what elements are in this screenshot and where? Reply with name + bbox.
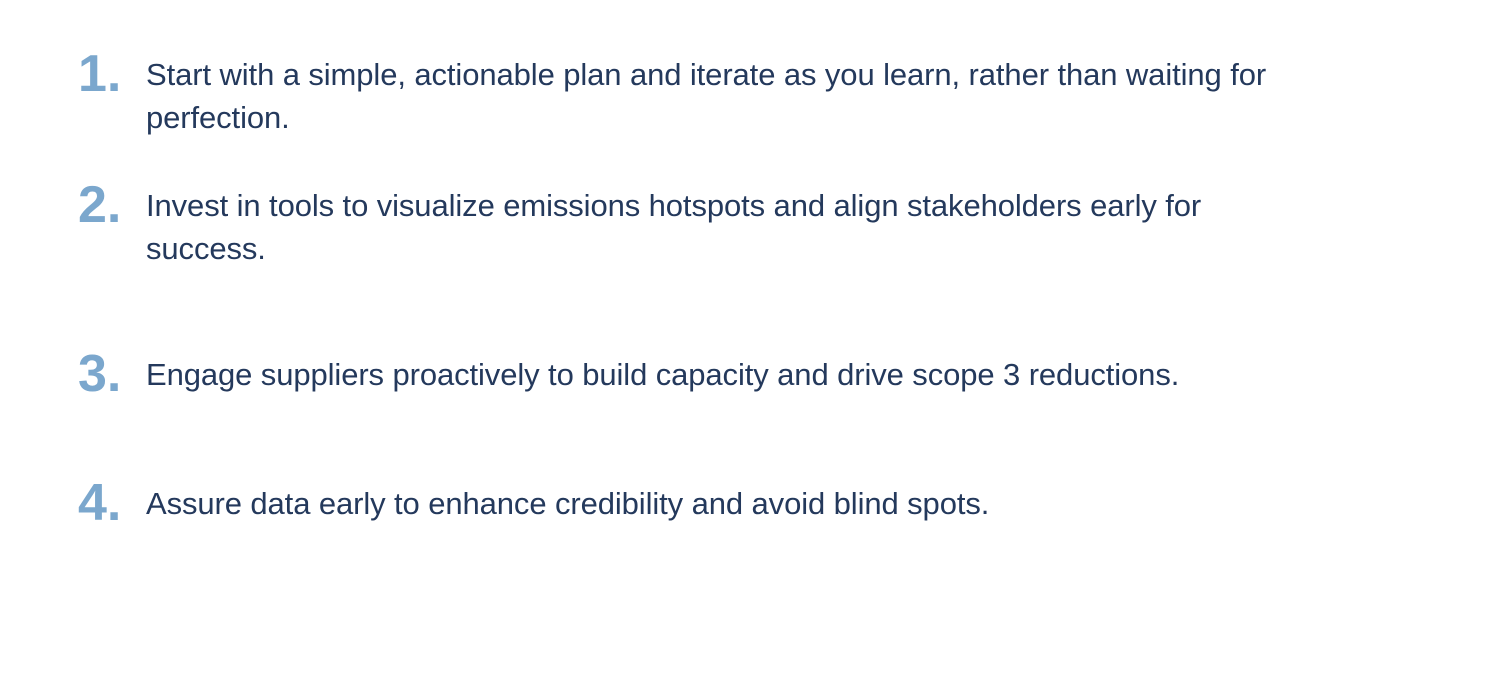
list-item-number: 4. [78,481,146,525]
list-item-number: 2. [78,183,146,227]
list-item-text: Assure data early to enhance credibility… [146,481,1386,525]
list-item-text: Engage suppliers proactively to build ca… [146,352,1386,396]
list-item: 1. Start with a simple, actionable plan … [78,52,1418,139]
list-item-number: 3. [78,352,146,396]
list-item-text: Invest in tools to visualize emissions h… [146,183,1306,270]
list-item: 3. Engage suppliers proactively to build… [78,352,1418,396]
numbered-takeaways-list: 1. Start with a simple, actionable plan … [78,52,1418,525]
slide-canvas: 1. Start with a simple, actionable plan … [0,0,1492,681]
list-item: 4. Assure data early to enhance credibil… [78,481,1418,525]
list-item-number: 1. [78,52,146,96]
list-item: 2. Invest in tools to visualize emission… [78,183,1418,270]
list-item-text: Start with a simple, actionable plan and… [146,52,1306,139]
